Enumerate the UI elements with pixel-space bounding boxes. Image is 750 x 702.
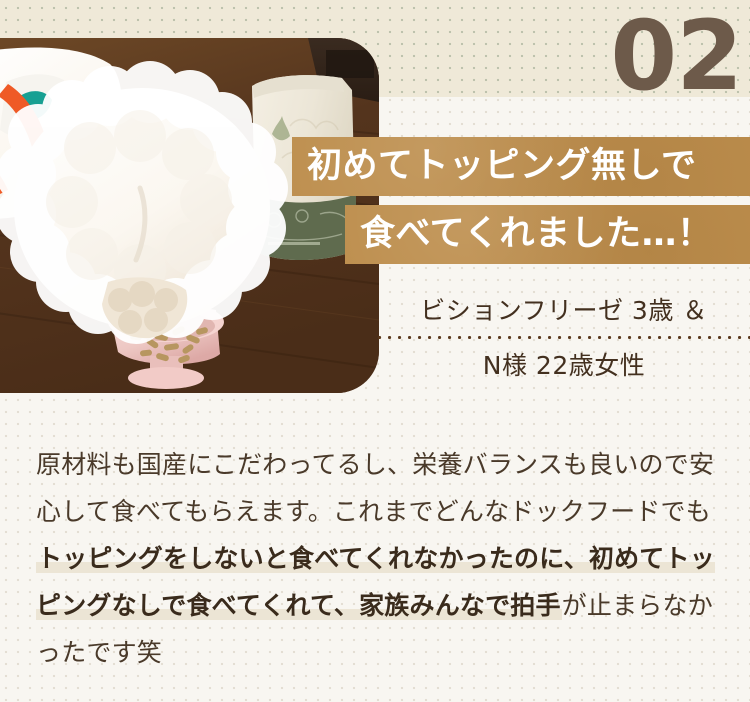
- testimonial-photo: [0, 38, 379, 393]
- issue-number: 02: [610, 8, 742, 104]
- reviewer-person-line: N様 22歳女性: [378, 343, 750, 388]
- testimonial-body: 原材料も国産にこだわってるし、栄養バランスも良いので安心して食べてもらえます。こ…: [36, 441, 726, 676]
- reviewer-divider: [378, 336, 750, 339]
- body-segment-normal-1: 原材料も国産にこだわってるし、栄養バランスも良いので安心して食べてもらえます。こ…: [36, 450, 714, 526]
- reviewer-info: ビションフリーゼ 3歳 ＆ N様 22歳女性: [378, 288, 750, 388]
- headline-line-2: 食べてくれました…！: [345, 205, 750, 264]
- testimonial-card: 02: [0, 0, 750, 702]
- photo-illustration: [0, 38, 379, 393]
- reviewer-pet-line: ビションフリーゼ 3歳 ＆: [378, 288, 750, 333]
- headline-line-1: 初めてトッピング無しで: [292, 137, 750, 196]
